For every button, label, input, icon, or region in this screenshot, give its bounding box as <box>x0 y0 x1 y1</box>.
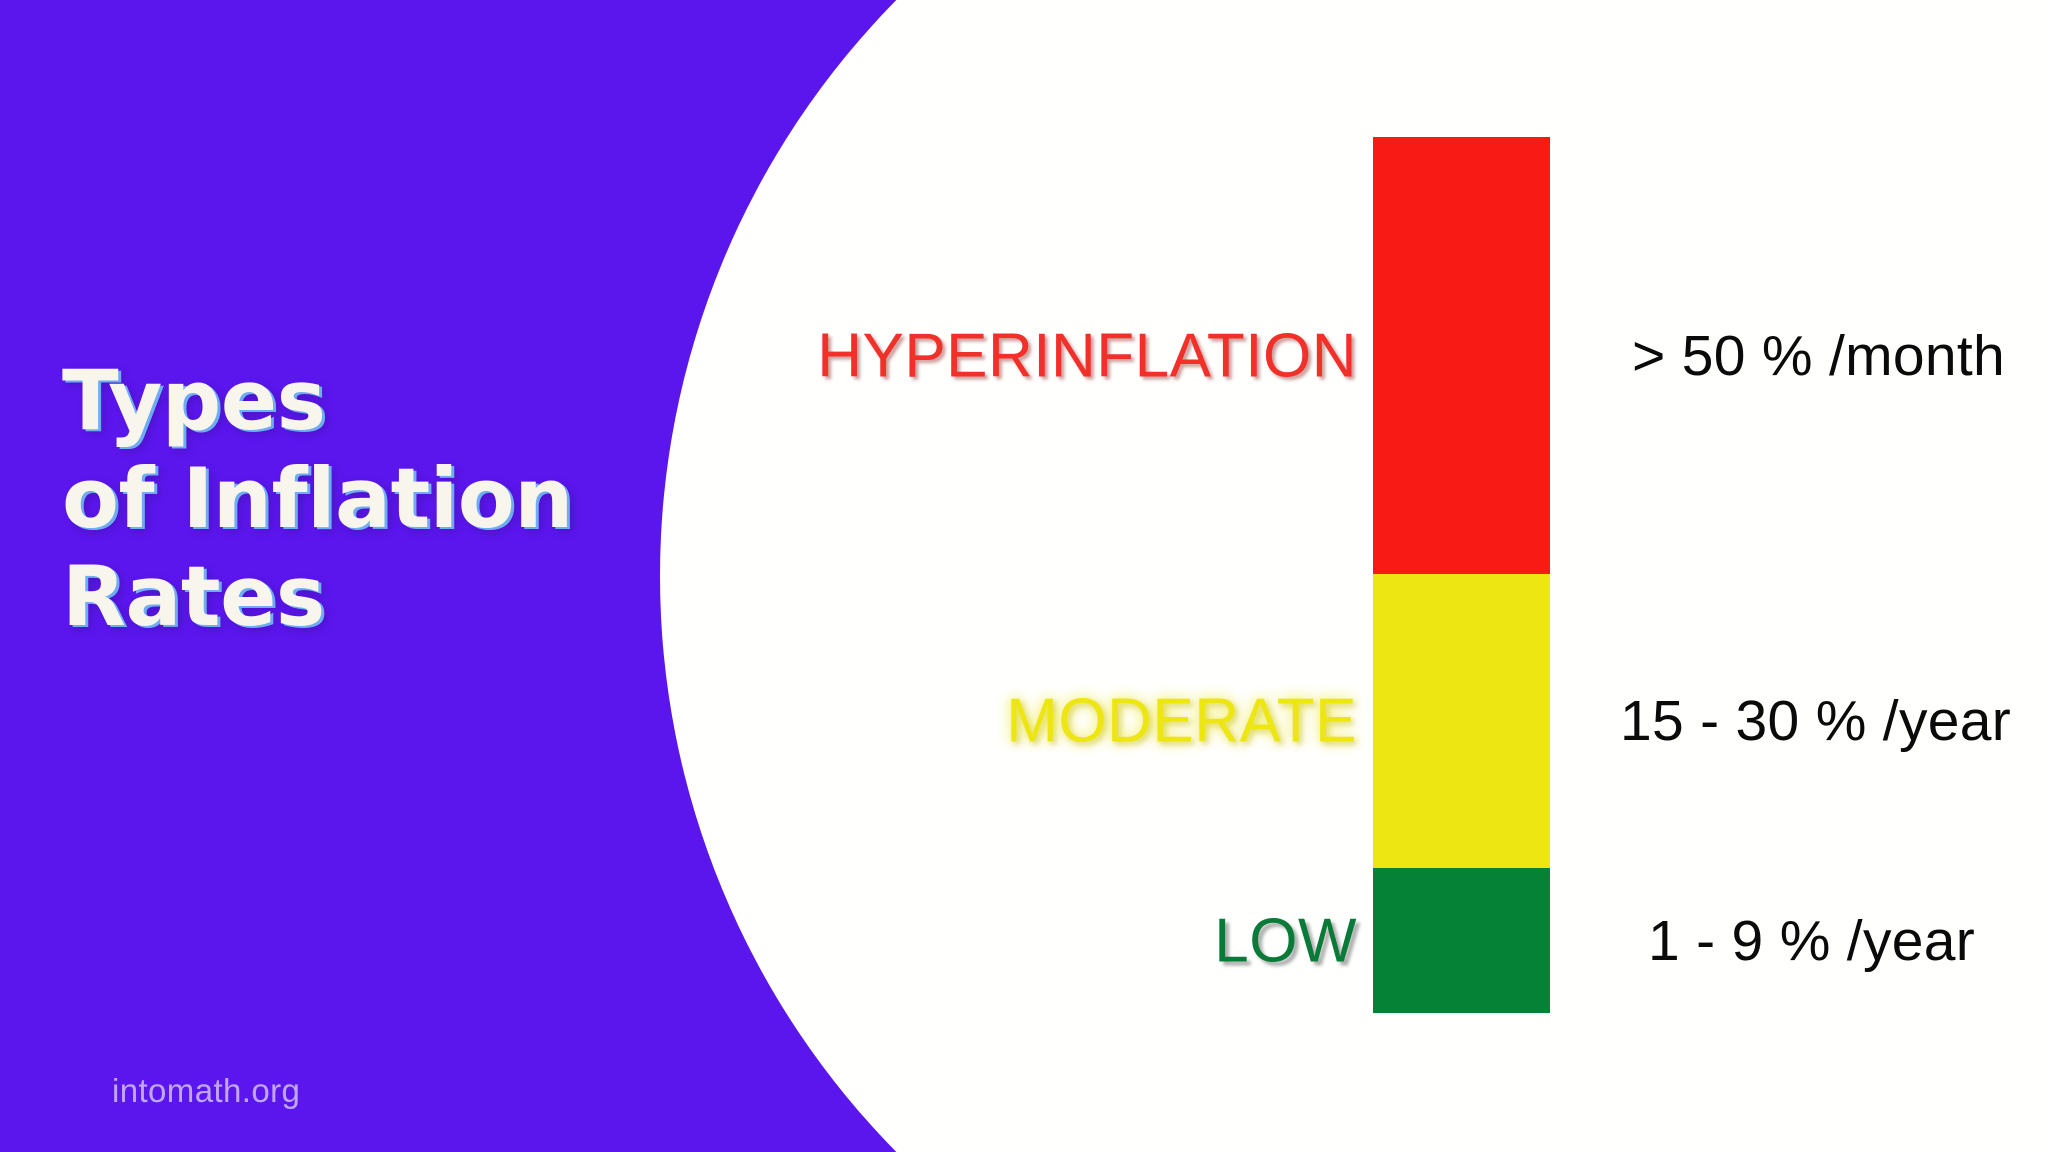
bar-label-moderate: MODERATE <box>1006 686 1373 757</box>
watermark-intomath: intomath.org <box>112 1072 300 1110</box>
page-title: Types of Inflation Rates <box>62 352 622 646</box>
white-circle-panel <box>660 0 2048 1152</box>
bar-label-hyperinflation: HYPERINFLATION <box>817 320 1373 391</box>
bar-segment-moderate: MODERATE 15 - 30 % /year <box>1373 574 1550 868</box>
inflation-bar-chart: HYPERINFLATION > 50 % /month MODERATE 15… <box>1373 137 1550 1013</box>
bar-segment-hyperinflation: HYPERINFLATION > 50 % /month <box>1373 137 1550 574</box>
title-line-2: of Inflation <box>62 450 622 548</box>
title-line-3: Rates <box>62 548 622 646</box>
bar-segment-low: LOW 1 - 9 % /year <box>1373 868 1550 1013</box>
infographic-poster: Types of Inflation Rates intomath.org HY… <box>0 0 2048 1152</box>
title-line-1: Types <box>62 352 622 450</box>
bar-label-low: LOW <box>1214 905 1373 976</box>
bar-value-low: 1 - 9 % /year <box>1550 908 1975 974</box>
bar-value-moderate: 15 - 30 % /year <box>1550 688 2011 754</box>
bar-value-hyperinflation: > 50 % /month <box>1550 323 2005 389</box>
